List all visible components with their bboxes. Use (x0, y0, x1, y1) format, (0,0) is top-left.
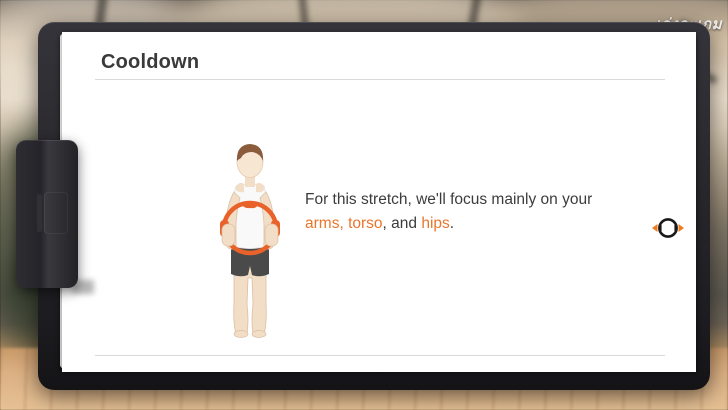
page-title: Cooldown (101, 51, 199, 74)
exercise-illustration (200, 128, 300, 338)
text-period: . (450, 215, 454, 232)
screenshot-stage: เก่งกะเกม Cooldown (0, 0, 728, 410)
highlight-word-torso: torso (348, 215, 382, 232)
highlight-word-hips: hips (421, 215, 449, 232)
instruction-text: For this stretch, we'll focus mainly on … (305, 188, 655, 236)
title-divider (95, 79, 665, 80)
content-page: Cooldown (62, 32, 696, 372)
text-separator-2: , and (383, 215, 422, 232)
tablet-device: Cooldown (38, 22, 710, 390)
instruction-line-1: For this stretch, we'll focus mainly on … (305, 191, 592, 208)
clipboard-clip[interactable] (16, 140, 78, 288)
bottom-divider (95, 355, 665, 356)
clip-notch (37, 194, 42, 232)
pilates-ring-squeeze-icon (651, 215, 685, 241)
highlight-word-arms: arms (305, 215, 339, 232)
clip-latch-button[interactable] (44, 192, 68, 234)
text-separator-1: , (339, 215, 348, 232)
